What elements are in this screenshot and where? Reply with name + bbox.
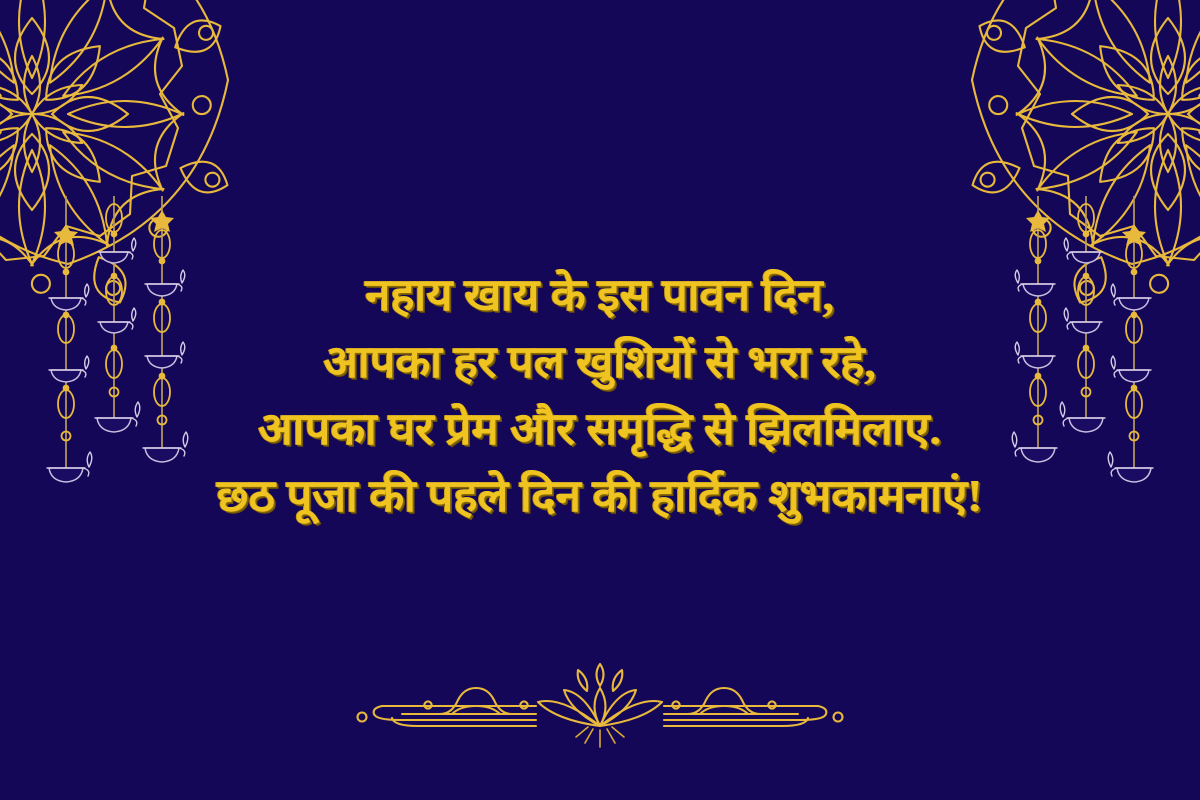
greeting-line-2: आपका हर पल खुशियों से भरा रहे, [0,329,1200,396]
greeting-line-3: आपका घर प्रेम और समृद्धि से झिलमिलाए. [0,396,1200,463]
greeting-line-4: छठ पूजा की पहले दिन की हार्दिक शुभकामनाए… [0,463,1200,530]
lotus-flourish-divider [340,648,860,753]
flourish-left [358,688,537,726]
lotus-icon [538,664,662,747]
flourish-right [664,688,843,726]
greeting-message: नहाय खाय के इस पावन दिन, आपका हर पल खुशि… [0,262,1200,530]
greeting-line-1: नहाय खाय के इस पावन दिन, [0,262,1200,329]
greeting-card: नहाय खाय के इस पावन दिन, आपका हर पल खुशि… [0,0,1200,800]
